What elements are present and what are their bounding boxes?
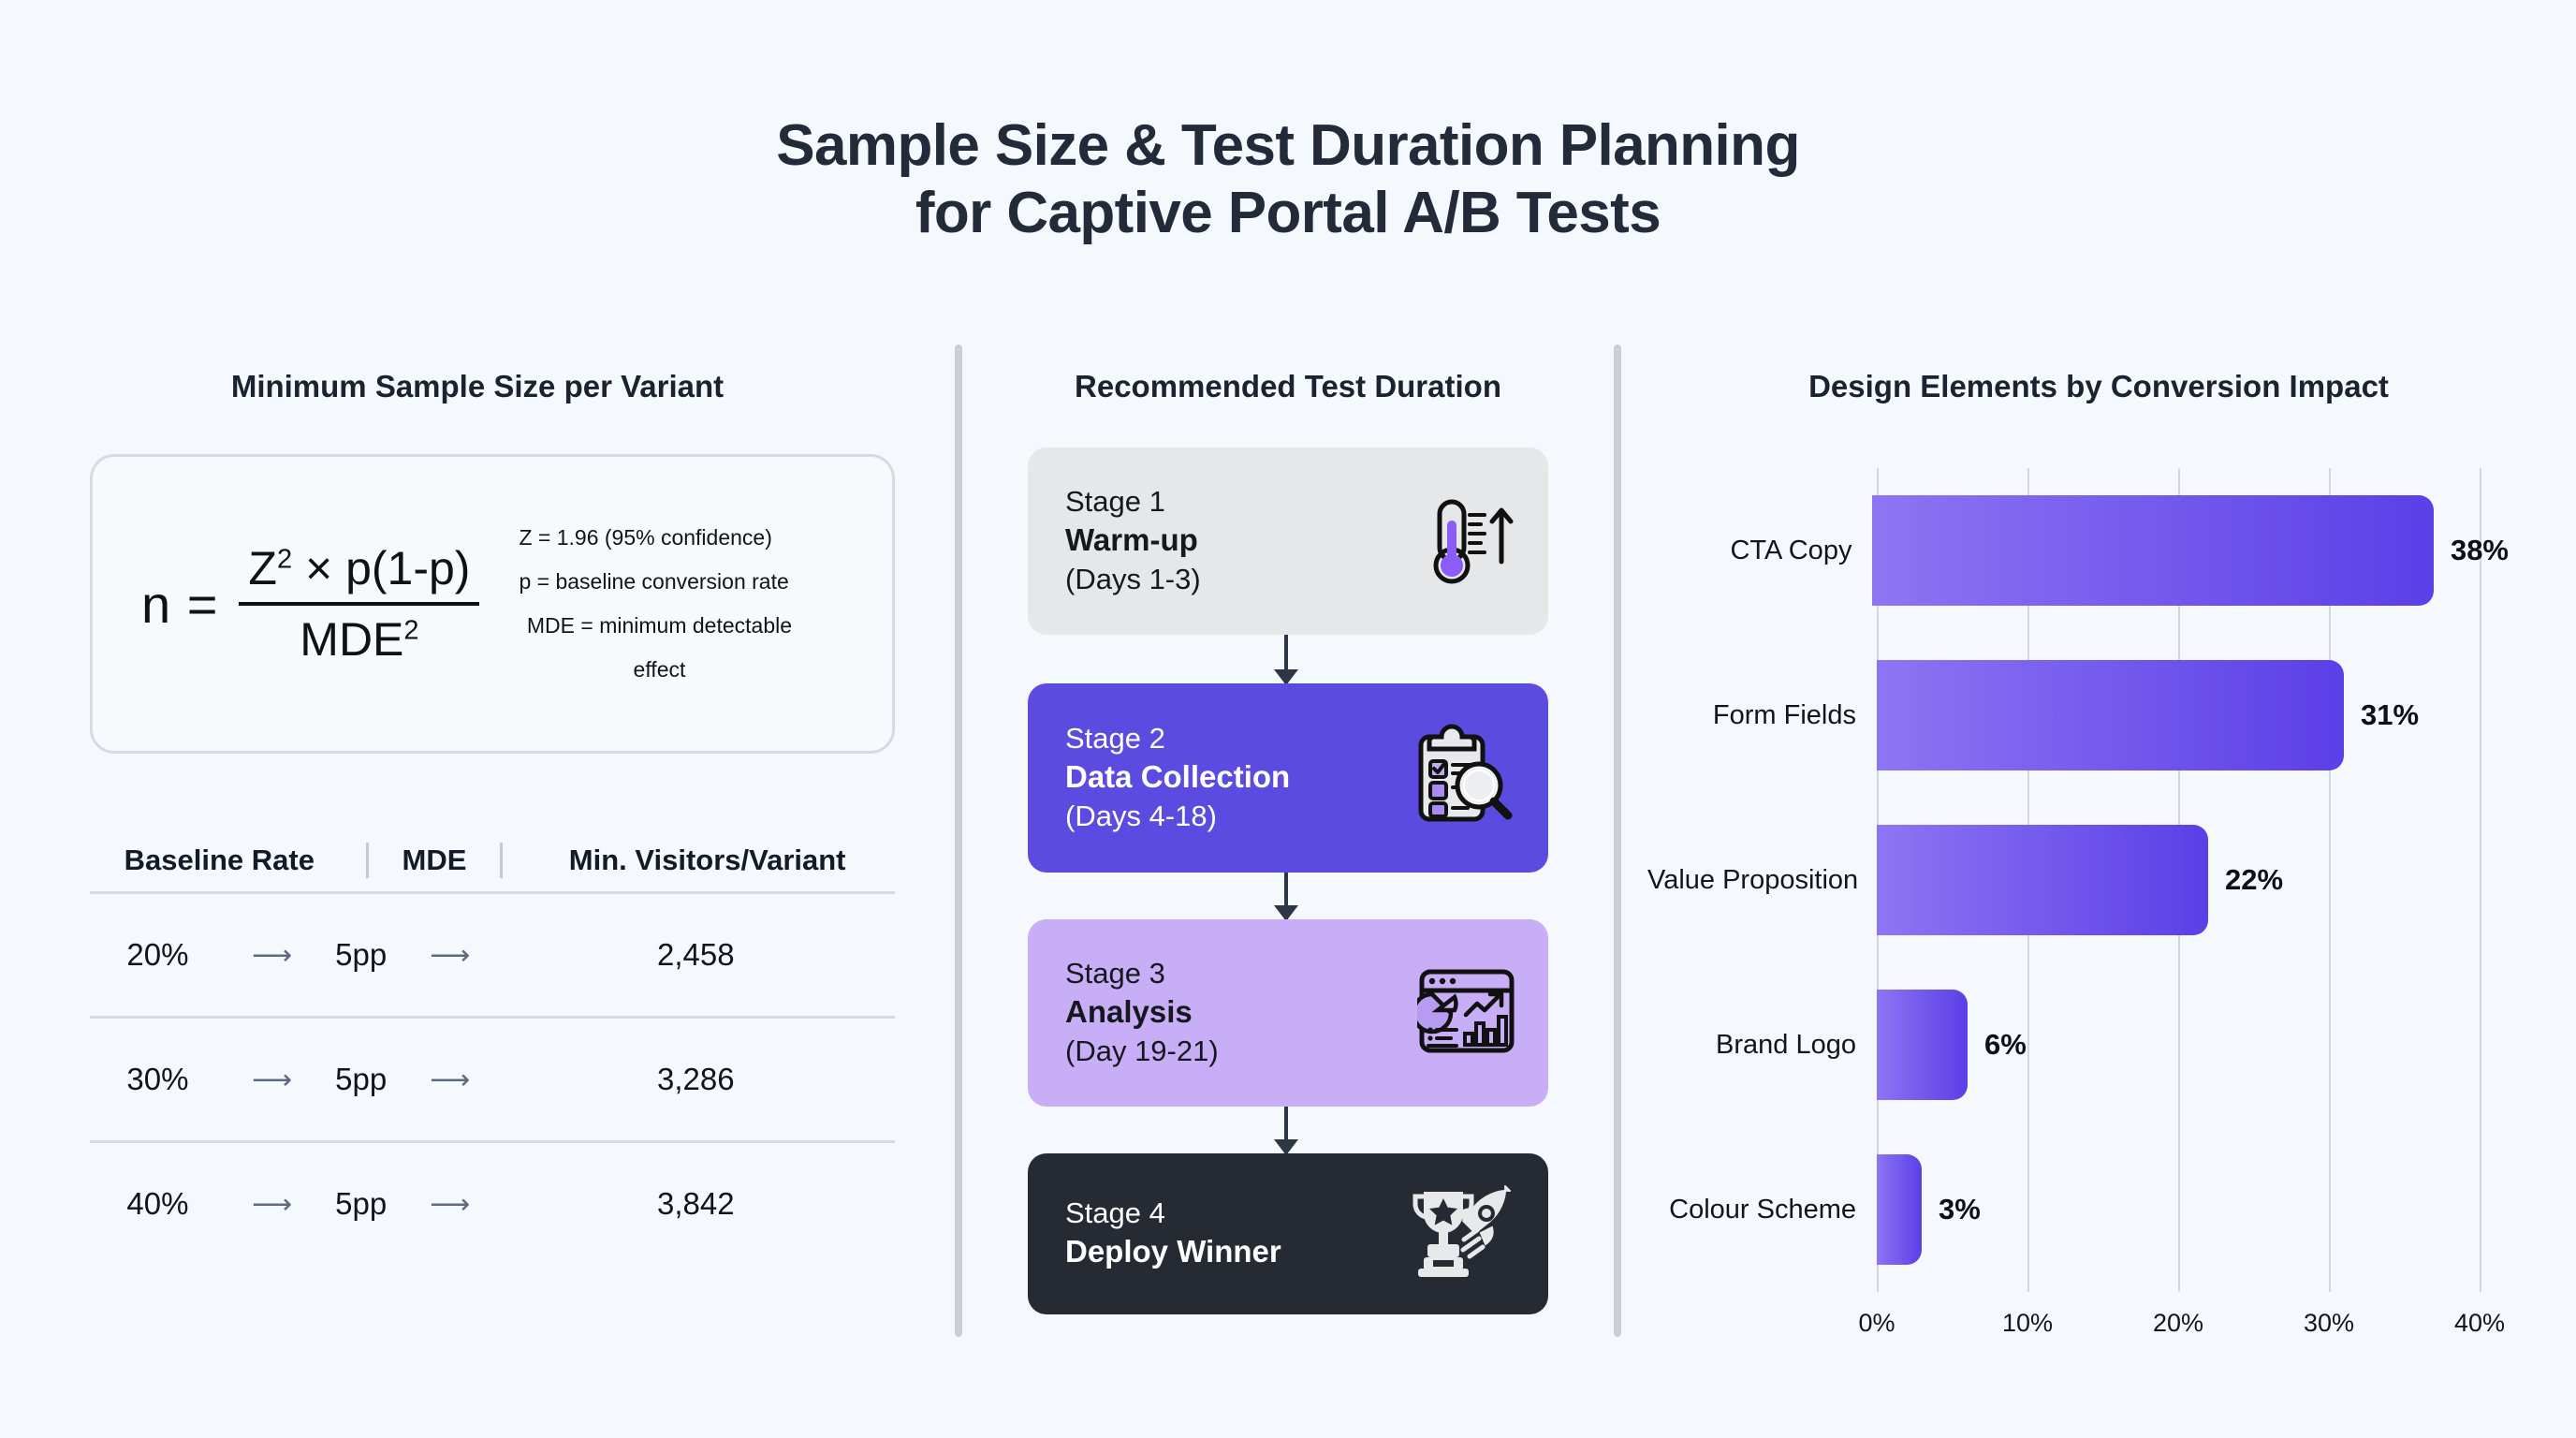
column-divider-left (955, 345, 962, 1337)
bar-value-label: 3% (1939, 1193, 1981, 1226)
sample-size-formula: n = Z2 × p(1-p) MDE2 (141, 541, 479, 667)
flow-connector-3 (1284, 1107, 1288, 1153)
stage-name: Deploy Winner (1065, 1232, 1281, 1272)
stage-number: Stage 2 (1065, 721, 1290, 757)
formula-legend: Z = 1.96 (95% confidence) p = baseline c… (519, 516, 799, 693)
stage-number: Stage 4 (1065, 1196, 1281, 1232)
arrow-icon: ⟶ (403, 939, 497, 972)
stage-card-data-collection: Stage 2 Data Collection (Days 4-18) (1028, 683, 1548, 873)
arrow-icon: ⟶ (403, 1188, 497, 1221)
x-axis-tick-10: 10% (2002, 1309, 2053, 1338)
bar-value-label: 38% (2451, 534, 2509, 567)
stage-number: Stage 1 (1065, 484, 1201, 521)
title-line-2: for Captive Portal A/B Tests (0, 180, 2576, 247)
chart-plot-area: CTA Copy 38% Form Fields 31% Value Propo… (1647, 468, 2509, 1292)
x-axis-tick-40: 40% (2454, 1309, 2505, 1338)
bar-category-label: Brand Logo (1647, 1030, 1877, 1061)
stage-card-warm-up: Stage 1 Warm-up (Days 1-3) (1028, 448, 1548, 635)
fraction-bar (239, 602, 479, 606)
title-line-1: Sample Size & Test Duration Planning (0, 112, 2576, 180)
stage-days: (Days 1-3) (1065, 561, 1201, 598)
bar (1877, 825, 2208, 935)
cell-baseline-rate: 30% (90, 1062, 226, 1097)
bar-value-label: 6% (1984, 1028, 2027, 1062)
flow-connector-2 (1284, 873, 1288, 919)
arrow-icon: ⟶ (403, 1064, 497, 1096)
column-header-baseline-rate: Baseline Rate (90, 844, 349, 877)
formula-fraction: Z2 × p(1-p) MDE2 (239, 541, 479, 667)
bar (1877, 660, 2344, 770)
formula-lhs: n = (141, 574, 218, 635)
stage-name: Warm-up (1065, 521, 1201, 561)
clipboard-search-icon (1413, 724, 1516, 833)
header-divider-1 (366, 843, 369, 878)
arrow-icon: ⟶ (226, 939, 319, 972)
bar-category-label: CTA Copy (1647, 536, 1872, 566)
section-title-duration: Recommended Test Duration (962, 369, 1614, 404)
flow-connector-1 (1284, 635, 1288, 683)
analytics-dashboard-icon (1417, 966, 1516, 1061)
stage-days: (Days 4-18) (1065, 798, 1290, 835)
page-title: Sample Size & Test Duration Planning for… (0, 112, 2576, 247)
x-axis-tick-20: 20% (2153, 1309, 2203, 1338)
infographic-page: Sample Size & Test Duration Planning for… (0, 0, 2576, 1438)
stage-name: Data Collection (1065, 757, 1290, 798)
arrow-icon: ⟶ (226, 1064, 319, 1096)
formula-denominator: MDE2 (290, 612, 428, 667)
stage-days: (Day 19-21) (1065, 1033, 1219, 1070)
cell-visitors: 3,286 (497, 1062, 895, 1097)
bar-category-label: Form Fields (1647, 700, 1877, 731)
thermometer-icon (1419, 491, 1516, 593)
header-divider-2 (500, 843, 503, 878)
table-header-row: Baseline Rate MDE Min. Visitors/Variant (90, 843, 895, 891)
legend-mde: MDE = minimum detectable effect (519, 604, 799, 692)
cell-mde: 5pp (318, 937, 403, 973)
section-title-sample-size: Minimum Sample Size per Variant (0, 369, 955, 404)
column-header-mde: MDE (386, 844, 484, 877)
x-axis-tick-30: 30% (2304, 1309, 2354, 1338)
bar-value-label: 31% (2361, 698, 2419, 732)
bar (1877, 990, 1968, 1100)
stage-number: Stage 3 (1065, 956, 1219, 992)
bar-row: Form Fields 31% (1647, 633, 2509, 798)
trophy-rocket-icon (1404, 1185, 1516, 1284)
cell-mde: 5pp (318, 1062, 403, 1097)
bar-value-label: 22% (2225, 863, 2283, 897)
table-row: 30% ⟶ 5pp ⟶ 3,286 (90, 1019, 895, 1140)
stage-name: Analysis (1065, 992, 1219, 1033)
stage-card-analysis: Stage 3 Analysis (Day 19-21) (1028, 919, 1548, 1107)
legend-z: Z = 1.96 (95% confidence) (519, 516, 799, 560)
bar (1877, 1154, 1922, 1265)
x-axis-tick-0: 0% (1858, 1309, 1895, 1338)
cell-visitors: 3,842 (497, 1186, 895, 1222)
bar-category-label: Colour Scheme (1647, 1195, 1877, 1225)
formula-card: n = Z2 × p(1-p) MDE2 Z = 1.96 (95% confi… (90, 454, 895, 754)
column-header-min-visitors: Min. Visitors/Variant (520, 844, 895, 877)
bar-row: CTA Copy 38% (1647, 468, 2509, 633)
cell-baseline-rate: 40% (90, 1186, 226, 1222)
bar-row: Colour Scheme 3% (1647, 1127, 2509, 1292)
stage-card-deploy-winner: Stage 4 Deploy Winner (1028, 1153, 1548, 1314)
cell-visitors: 2,458 (497, 937, 895, 973)
conversion-impact-chart: CTA Copy 38% Form Fields 31% Value Propo… (1647, 440, 2509, 1311)
sample-size-table: Baseline Rate MDE Min. Visitors/Variant … (90, 843, 895, 1265)
bar (1872, 495, 2434, 606)
bar-category-label: Value Proposition (1647, 865, 1877, 896)
cell-baseline-rate: 20% (90, 937, 226, 973)
bar-row: Value Proposition 22% (1647, 798, 2509, 962)
section-title-impact: Design Elements by Conversion Impact (1621, 369, 2576, 404)
cell-mde: 5pp (318, 1186, 403, 1222)
table-row: 20% ⟶ 5pp ⟶ 2,458 (90, 894, 895, 1016)
legend-p: p = baseline conversion rate (519, 560, 799, 604)
column-divider-right (1614, 345, 1621, 1337)
table-row: 40% ⟶ 5pp ⟶ 3,842 (90, 1143, 895, 1265)
bar-row: Brand Logo 6% (1647, 962, 2509, 1127)
formula-numerator: Z2 × p(1-p) (239, 541, 479, 595)
arrow-icon: ⟶ (226, 1188, 319, 1221)
